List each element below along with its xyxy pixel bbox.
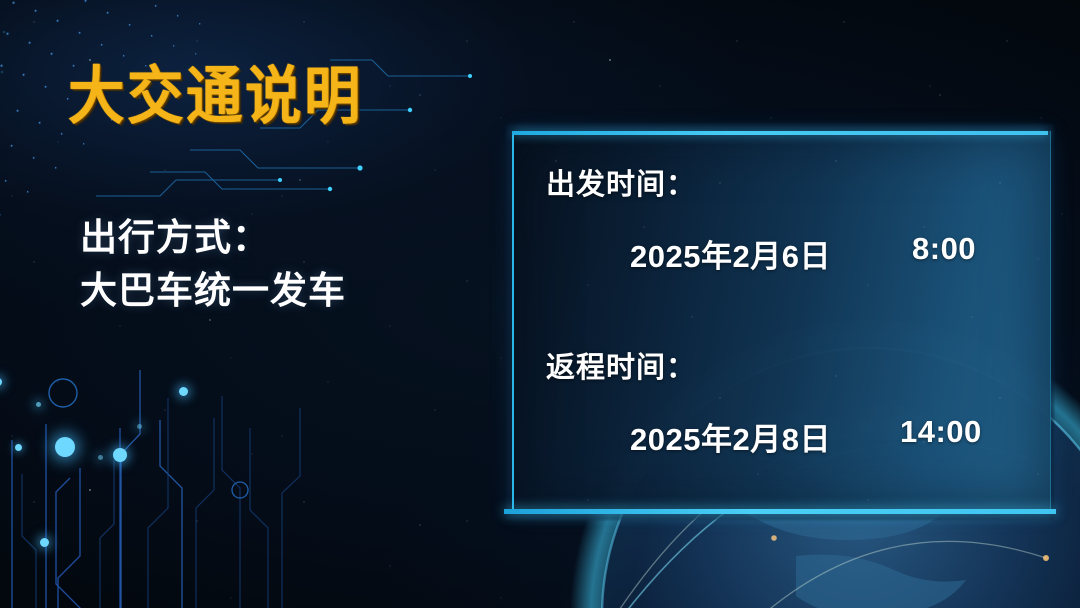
travel-mode-block: 出行方式： 大巴车统一发车 [80, 212, 346, 317]
schedule-panel-content: 出发时间： 2025年2月6日 8:00 返程时间： 2025年2月8日 14:… [514, 131, 1050, 512]
circuit-node-glow [179, 387, 188, 396]
panel-bottom-accent-border [504, 509, 1056, 514]
schedule-panel: 出发时间： 2025年2月6日 8:00 返程时间： 2025年2月8日 14:… [512, 131, 1051, 512]
departure-time-label: 出发时间： [546, 161, 696, 203]
return-date-value: 2025年2月8日 [630, 414, 831, 459]
circuit-node-glow [15, 444, 22, 451]
return-time-label: 返程时间： [546, 344, 696, 386]
return-time-value: 14:00 [900, 414, 982, 450]
circuit-node-glow [137, 424, 142, 429]
departure-time-value: 8:00 [912, 231, 976, 267]
circuit-node-glow [36, 402, 41, 407]
circuit-node-glow [40, 538, 49, 547]
circuit-node-glow [98, 455, 103, 460]
departure-date-value: 2025年2月6日 [630, 231, 831, 276]
panel-top-accent-border [512, 131, 1048, 135]
travel-mode-label: 出行方式： [80, 212, 346, 265]
circuit-node-glow [55, 437, 75, 457]
slide-canvas: 大交通说明 出行方式： 大巴车统一发车 出发时间： 2025年2月6日 8:00… [0, 0, 1080, 608]
circuit-board-icon [0, 278, 330, 608]
travel-mode-value: 大巴车统一发车 [80, 265, 346, 318]
circuit-node-glow [113, 448, 127, 462]
page-title: 大交通说明 [68, 46, 363, 137]
